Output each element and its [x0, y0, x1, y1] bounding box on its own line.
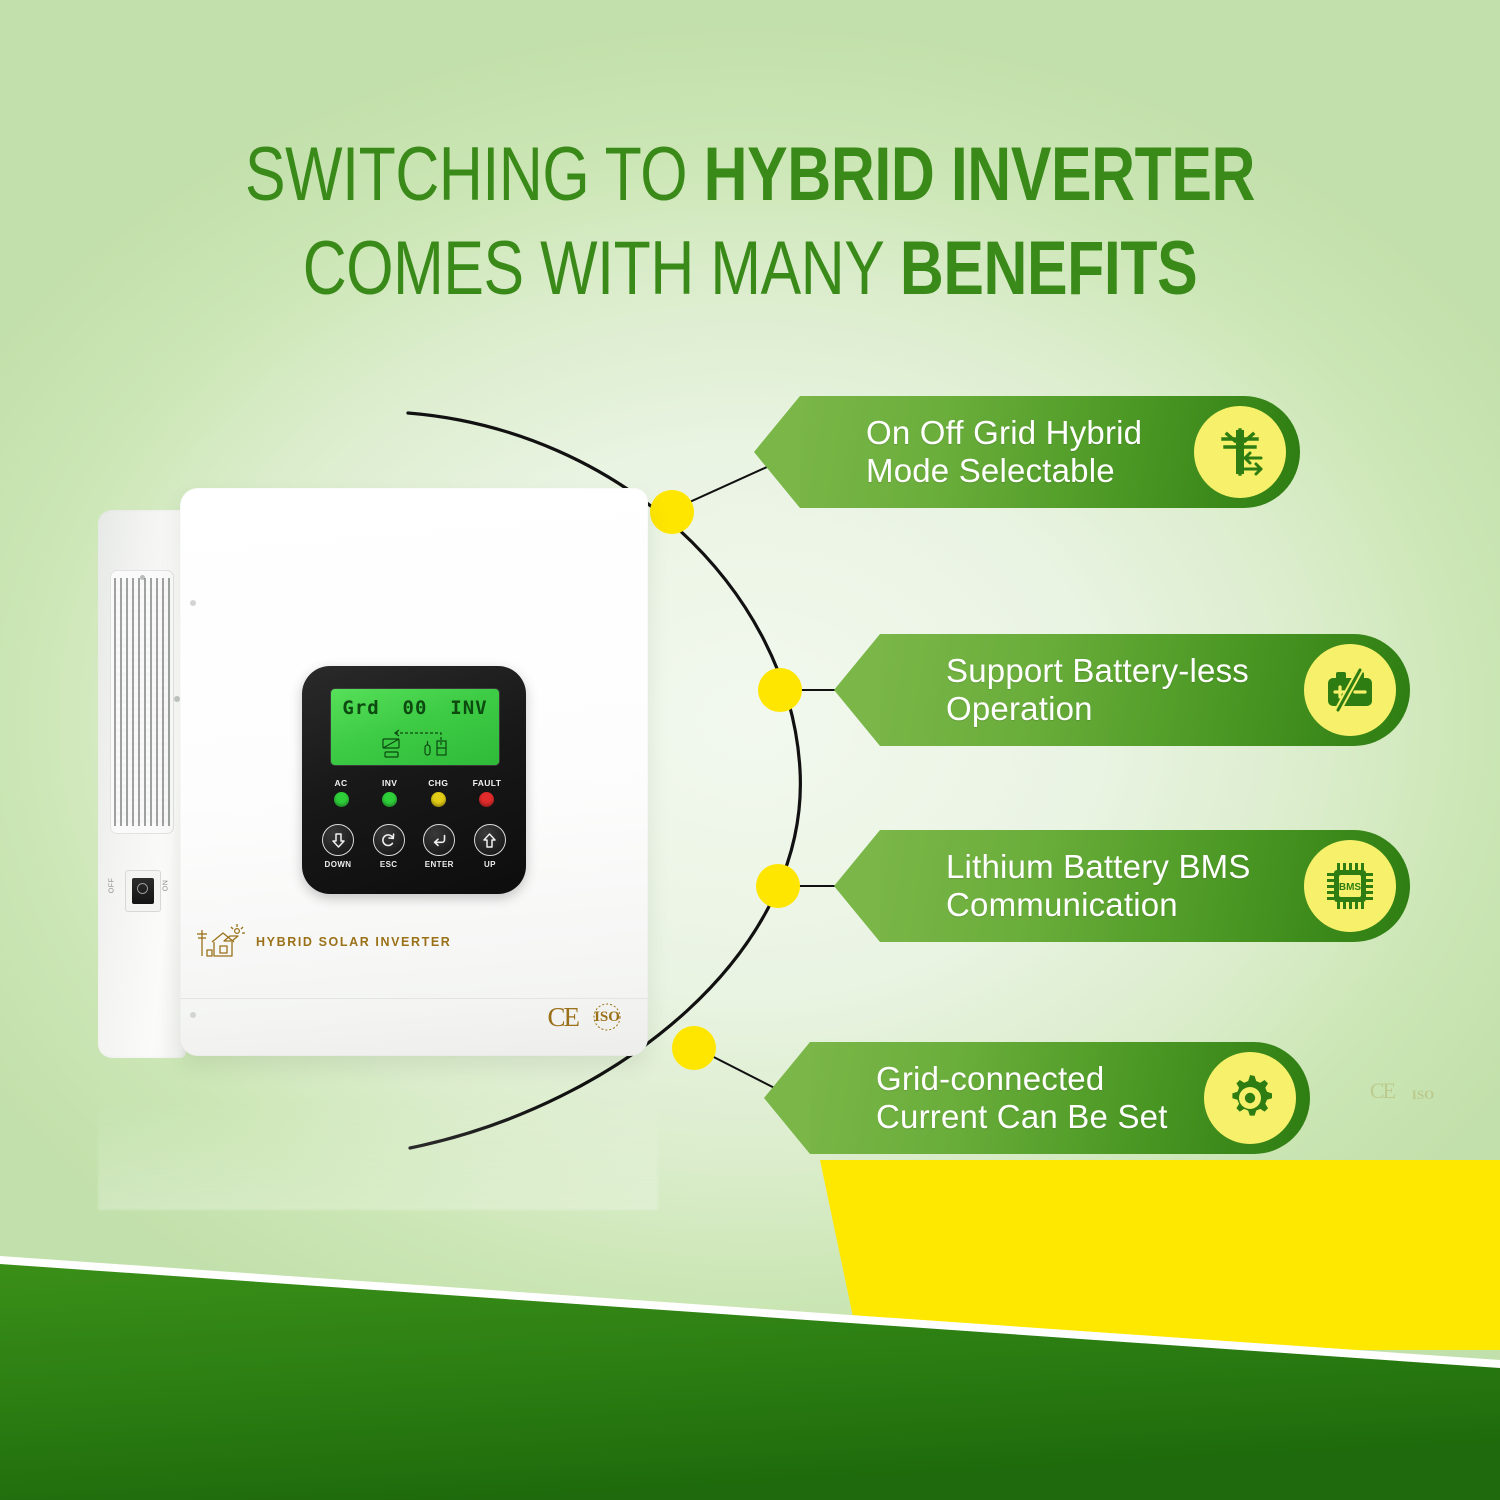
product-reflection-marks: CE ISO [1370, 1078, 1440, 1112]
led-label-chg: CHG [417, 778, 459, 788]
led-dot-fault [479, 792, 494, 807]
bms-chip-label: BMS [1339, 882, 1362, 893]
feature-label-bms-communication: Lithium Battery BMS Communication [946, 848, 1251, 925]
button-down[interactable]: DOWN [316, 824, 360, 869]
bottom-decorative-band [0, 1160, 1500, 1500]
led-fault: FAULT [466, 778, 508, 807]
title-line-1-light: SWITCHING TO [245, 132, 704, 217]
button-label-esc: ESC [367, 860, 411, 869]
case-seam [180, 998, 648, 999]
certification-marks: CE ISO [547, 1000, 624, 1034]
house-solar-grid-icon [196, 922, 250, 962]
button-up[interactable]: UP [468, 824, 512, 869]
gear-icon [1204, 1052, 1296, 1144]
led-dot-chg [431, 792, 446, 807]
power-switch-off-label: OFF [108, 878, 115, 894]
feature-callout-on-off-grid[interactable]: On Off Grid Hybrid Mode Selectable [800, 396, 1300, 508]
iso-mark: ISO [590, 1000, 624, 1034]
button-label-up: UP [468, 860, 512, 869]
button-label-down: DOWN [316, 860, 360, 869]
control-panel: Grd 00 INV [302, 666, 526, 894]
button-row: DOWN ESC ENTER [316, 824, 512, 869]
node-dot-4 [672, 1026, 716, 1070]
lcd-segment-inv: INV [450, 697, 487, 719]
led-label-fault: FAULT [466, 778, 508, 788]
lcd-segment-value: 00 [403, 697, 428, 719]
feature-callout-bms-communication[interactable]: Lithium Battery BMS Communication [880, 830, 1410, 942]
lcd-segment-grd: Grd [342, 697, 379, 719]
feature-label-grid-current: Grid-connected Current Can Be Set [876, 1060, 1168, 1137]
lcd-flow-diagram [331, 721, 499, 761]
iso-mark-reflection: ISO [1406, 1078, 1440, 1112]
node-dot-2 [758, 668, 802, 712]
ventilation-grille [110, 570, 174, 834]
button-label-enter: ENTER [417, 860, 461, 869]
infographic-poster: SWITCHING TO HYBRID INVERTER COMES WITH … [0, 0, 1500, 1500]
button-enter[interactable]: ENTER [417, 824, 461, 869]
title-line-2: COMES WITH MANY BENEFITS [150, 230, 1350, 308]
feature-callout-battery-less[interactable]: Support Battery-less Operation [880, 634, 1410, 746]
feature-callout-grid-current[interactable]: Grid-connected Current Can Be Set [810, 1042, 1310, 1154]
lcd-display: Grd 00 INV [330, 688, 500, 766]
arrow-down-icon [322, 824, 354, 856]
led-indicator-row: AC INV CHG FAULT [320, 778, 508, 807]
inverter-front-face: Grd 00 INV [180, 488, 648, 1056]
power-switch-on-label: ON [162, 880, 169, 892]
feature-label-battery-less: Support Battery-less Operation [946, 652, 1249, 729]
enter-return-icon [423, 824, 455, 856]
title-line-2-light: COMES WITH MANY [303, 226, 900, 311]
utility-pole-bidirectional-icon [1194, 406, 1286, 498]
led-ac: AC [320, 778, 362, 807]
product-image-hybrid-solar-inverter: OFF ON Grd 00 INV [98, 488, 658, 1108]
led-chg: CHG [417, 778, 459, 807]
bms-chip-icon: BMS [1304, 840, 1396, 932]
led-label-ac: AC [320, 778, 362, 788]
title-line-2-bold: BENEFITS [900, 226, 1197, 311]
node-dot-3 [756, 864, 800, 908]
button-esc[interactable]: ESC [367, 824, 411, 869]
inverter-side-panel: OFF ON [98, 510, 186, 1058]
page-title: SWITCHING TO HYBRID INVERTER COMES WITH … [0, 136, 1500, 307]
feature-label-on-off-grid: On Off Grid Hybrid Mode Selectable [866, 414, 1142, 491]
led-dot-ac [334, 792, 349, 807]
led-dot-inv [382, 792, 397, 807]
title-line-1: SWITCHING TO HYBRID INVERTER [150, 136, 1350, 214]
led-label-inv: INV [369, 778, 411, 788]
brand-lockup: HYBRID SOLAR INVERTER [196, 920, 496, 964]
face-screw [190, 600, 196, 606]
title-line-1-bold: HYBRID INVERTER [704, 132, 1255, 217]
brand-name: HYBRID SOLAR INVERTER [256, 935, 451, 949]
power-switch[interactable] [125, 870, 161, 912]
battery-disabled-icon [1304, 644, 1396, 736]
face-screw [190, 1012, 196, 1018]
led-inv: INV [369, 778, 411, 807]
ce-mark-reflection: CE [1370, 1078, 1394, 1112]
arrow-up-icon [474, 824, 506, 856]
escape-circular-arrow-icon [373, 824, 405, 856]
ce-mark: CE [547, 1002, 578, 1033]
